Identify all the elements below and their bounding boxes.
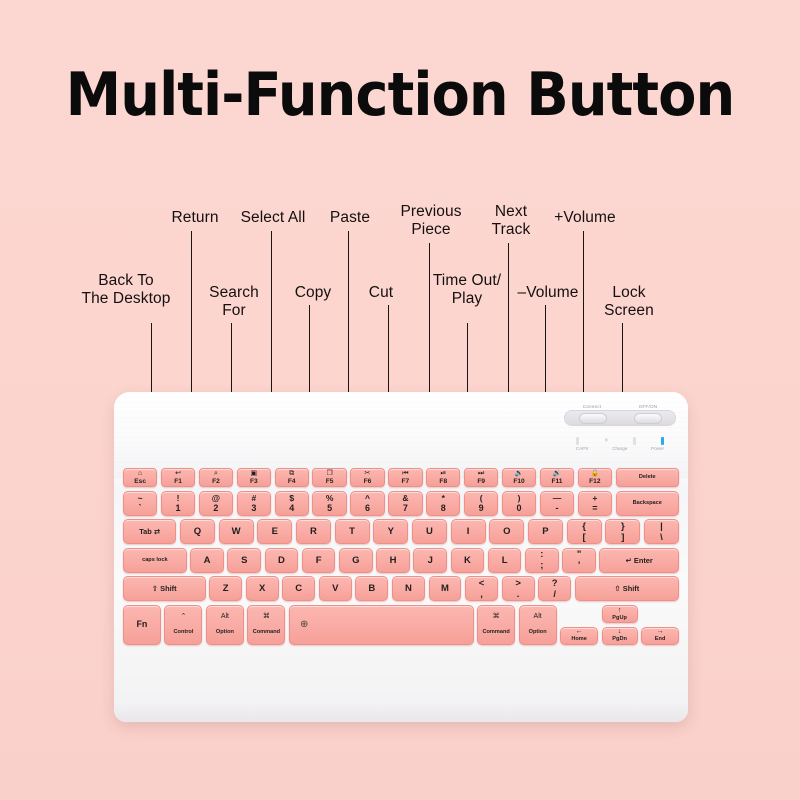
key-minus[interactable]: —- xyxy=(540,491,574,516)
key-period[interactable]: >. xyxy=(502,576,535,601)
key-7[interactable]: &7 xyxy=(388,491,422,516)
key-option-left[interactable]: AltOption xyxy=(206,605,244,645)
key-3[interactable]: #3 xyxy=(237,491,271,516)
key-f8[interactable]: ⏯F8 xyxy=(426,468,460,487)
command-icon: ⌘ xyxy=(493,613,500,621)
callout-volume-down: –Volume xyxy=(508,284,588,302)
command-icon: ⌘ xyxy=(263,613,270,621)
key-m[interactable]: M xyxy=(429,576,462,601)
caps-led xyxy=(576,437,579,445)
key-matrix: ⌂Esc ↩F1 ⌕F2 ▣F3 ⧉F4 ❐F5 ✂F6 ⏮F7 ⏯F8 ⏭F9… xyxy=(123,468,679,649)
key-esc[interactable]: ⌂Esc xyxy=(123,468,157,487)
key-6[interactable]: ^6 xyxy=(350,491,384,516)
key-q[interactable]: Q xyxy=(180,519,215,544)
key-8[interactable]: *8 xyxy=(426,491,460,516)
arrow-up-icon: ↑ xyxy=(618,607,622,614)
copy-icon: ⧉ xyxy=(289,470,294,477)
alt-icon: Alt xyxy=(534,613,542,621)
key-j[interactable]: J xyxy=(413,548,447,573)
key-backtick[interactable]: ~` xyxy=(123,491,157,516)
connect-switch-label: Connect xyxy=(583,404,602,409)
play-pause-icon: ⏯ xyxy=(440,470,446,477)
callout-search-for: Search For xyxy=(201,284,267,320)
key-quote[interactable]: "' xyxy=(562,548,596,573)
charge-led-label: Charge xyxy=(612,446,627,451)
power-led xyxy=(661,437,664,445)
key-enter[interactable]: ↵ Enter xyxy=(599,548,678,573)
power-switch-label: OFF/ON xyxy=(639,404,658,409)
page-key-stack: ↑PgUp ↓PgDn xyxy=(602,605,638,645)
control-icon: ⌃ xyxy=(180,613,186,621)
key-2[interactable]: @2 xyxy=(199,491,233,516)
key-f4[interactable]: ⧉F4 xyxy=(275,468,309,487)
key-n[interactable]: N xyxy=(392,576,425,601)
scissors-icon: ✂ xyxy=(365,470,371,477)
key-fn[interactable]: Fn xyxy=(123,605,161,645)
power-led-label: Power xyxy=(651,446,664,451)
select-all-icon: ▣ xyxy=(251,470,258,477)
home-icon: ⌂ xyxy=(138,470,142,477)
callout-back-to-desktop: Back To The Desktop xyxy=(66,272,186,308)
key-1[interactable]: !1 xyxy=(161,491,195,516)
key-d[interactable]: D xyxy=(265,548,299,573)
key-y[interactable]: Y xyxy=(373,519,408,544)
key-backspace[interactable]: Backspace xyxy=(616,491,679,516)
key-b[interactable]: B xyxy=(355,576,388,601)
volume-up-icon: 🔊 xyxy=(553,470,562,477)
key-bracket-right[interactable]: }] xyxy=(605,519,640,544)
bluetooth-icon: ✶ xyxy=(604,437,609,445)
callout-previous-piece: Previous Piece xyxy=(392,203,470,239)
q-key-row: Tab ⇄ Q W E R T Y U I O P {[ }] |\ xyxy=(123,519,679,544)
search-icon: ⌕ xyxy=(214,470,218,477)
key-equal[interactable]: += xyxy=(578,491,612,516)
key-z[interactable]: Z xyxy=(209,576,242,601)
arrow-left-icon: ← xyxy=(576,628,583,635)
key-g[interactable]: G xyxy=(339,548,373,573)
key-tab[interactable]: Tab ⇄ xyxy=(123,519,176,544)
key-h[interactable]: H xyxy=(376,548,410,573)
paste-icon: ❐ xyxy=(326,470,332,477)
key-f11[interactable]: 🔊F11 xyxy=(540,468,574,487)
key-control-left[interactable]: ⌃Control xyxy=(164,605,202,645)
key-f3[interactable]: ▣F3 xyxy=(237,468,271,487)
key-f7[interactable]: ⏮F7 xyxy=(388,468,422,487)
callout-return: Return xyxy=(160,209,230,227)
key-e[interactable]: E xyxy=(257,519,292,544)
volume-down-icon: 🔈 xyxy=(515,470,524,477)
key-end[interactable]: →End xyxy=(641,627,679,645)
keyboard: Connect OFF/ON ✶ CAPS Charge Power xyxy=(114,392,688,722)
key-4[interactable]: $4 xyxy=(275,491,309,516)
key-a[interactable]: A xyxy=(190,548,224,573)
key-command-left[interactable]: ⌘Command xyxy=(247,605,285,645)
key-caps-lock[interactable]: caps lock xyxy=(123,548,187,573)
previous-track-icon: ⏮ xyxy=(402,470,408,477)
key-backslash[interactable]: |\ xyxy=(644,519,679,544)
key-c[interactable]: C xyxy=(282,576,315,601)
key-bracket-left[interactable]: {[ xyxy=(567,519,602,544)
key-w[interactable]: W xyxy=(219,519,254,544)
key-option-right[interactable]: AltOption xyxy=(519,605,557,645)
key-home[interactable]: ←Home xyxy=(560,627,598,645)
callout-cut: Cut xyxy=(355,284,407,302)
key-f2[interactable]: ⌕F2 xyxy=(199,468,233,487)
key-page-down[interactable]: ↓PgDn xyxy=(602,627,638,645)
key-semicolon[interactable]: :; xyxy=(525,548,559,573)
alt-icon: Alt xyxy=(221,613,229,621)
key-delete[interactable]: Delete xyxy=(616,468,679,487)
connect-switch[interactable] xyxy=(579,413,607,424)
key-t[interactable]: T xyxy=(335,519,370,544)
key-x[interactable]: X xyxy=(246,576,279,601)
key-command-right[interactable]: ⌘Command xyxy=(477,605,515,645)
key-v[interactable]: V xyxy=(319,576,352,601)
key-f9[interactable]: ⏭F9 xyxy=(464,468,498,487)
key-slash[interactable]: ?/ xyxy=(538,576,571,601)
charge-led xyxy=(633,437,636,445)
lock-icon: 🔒 xyxy=(590,470,599,477)
globe-icon: ⊕ xyxy=(300,619,308,630)
key-f[interactable]: F xyxy=(302,548,336,573)
callout-volume-up: +Volume xyxy=(544,209,626,227)
callout-time-out-play: Time Out/ Play xyxy=(424,272,510,308)
poster-canvas: Multi-Function Button Return Select All … xyxy=(0,0,800,800)
key-9[interactable]: (9 xyxy=(464,491,498,516)
key-0[interactable]: )0 xyxy=(502,491,536,516)
space-key-row: Fn ⌃Control AltOption ⌘Command ⊕ ⌘Comman… xyxy=(123,605,679,645)
keyboard-bottom-edge xyxy=(114,704,688,722)
key-f6[interactable]: ✂F6 xyxy=(350,468,384,487)
key-shift-right[interactable]: ⇧ Shift xyxy=(575,576,679,601)
key-space[interactable]: ⊕ xyxy=(289,605,474,645)
key-f10[interactable]: 🔈F10 xyxy=(502,468,536,487)
key-comma[interactable]: <, xyxy=(465,576,498,601)
return-icon: ↩ xyxy=(175,470,181,477)
callout-copy: Copy xyxy=(283,284,343,302)
key-o[interactable]: O xyxy=(489,519,524,544)
key-f12[interactable]: 🔒F12 xyxy=(578,468,612,487)
callout-select-all: Select All xyxy=(231,209,315,227)
key-i[interactable]: I xyxy=(451,519,486,544)
next-track-icon: ⏭ xyxy=(478,470,484,477)
z-key-row: ⇧ Shift Z X C V B N M <, >. ?/ ⇧ Shift xyxy=(123,576,679,601)
key-s[interactable]: S xyxy=(227,548,261,573)
caps-led-label: CAPS xyxy=(576,446,589,451)
callout-next-track: Next Track xyxy=(481,203,541,239)
key-u[interactable]: U xyxy=(412,519,447,544)
arrow-down-icon: ↓ xyxy=(618,628,622,635)
key-k[interactable]: K xyxy=(451,548,485,573)
function-key-row: ⌂Esc ↩F1 ⌕F2 ▣F3 ⧉F4 ❐F5 ✂F6 ⏮F7 ⏯F8 ⏭F9… xyxy=(123,468,679,487)
indicator-panel: Connect OFF/ON ✶ CAPS Charge Power xyxy=(564,404,676,466)
key-r[interactable]: R xyxy=(296,519,331,544)
page-title: Multi-Function Button xyxy=(28,60,772,130)
key-page-up[interactable]: ↑PgUp xyxy=(602,605,638,623)
arrow-right-icon: → xyxy=(657,628,664,635)
key-l[interactable]: L xyxy=(488,548,522,573)
key-shift-left[interactable]: ⇧ Shift xyxy=(123,576,206,601)
key-5[interactable]: %5 xyxy=(312,491,346,516)
power-switch[interactable] xyxy=(634,413,662,424)
key-p[interactable]: P xyxy=(528,519,563,544)
number-key-row: ~` !1 @2 #3 $4 %5 ^6 &7 *8 (9 )0 —- += B… xyxy=(123,491,679,516)
callout-lock-screen: Lock Screen xyxy=(596,284,662,320)
callout-paste: Paste xyxy=(319,209,381,227)
key-f5[interactable]: ❐F5 xyxy=(312,468,346,487)
key-f1[interactable]: ↩F1 xyxy=(161,468,195,487)
switch-track xyxy=(564,410,676,426)
a-key-row: caps lock A S D F G H J K L :; "' ↵ Ente… xyxy=(123,548,679,573)
